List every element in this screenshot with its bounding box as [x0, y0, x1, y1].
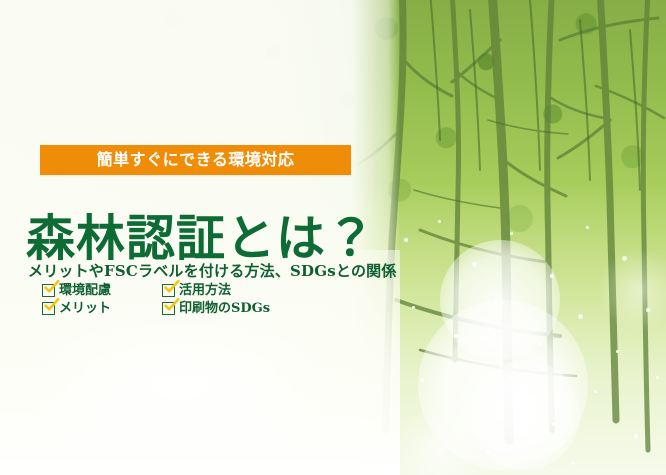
page-subtitle: メリットやFSCラベルを付ける方法、SDGsとの関係 [28, 264, 397, 279]
page-title: 森林認証とは？ [26, 214, 376, 263]
list-item-label: 環境配慮 [59, 284, 111, 297]
eyebrow-banner: 簡単すぐにできる環境対応 [40, 145, 351, 175]
list-item: 活用方法 [162, 284, 270, 297]
list-item-label: 活用方法 [179, 284, 231, 297]
list-item: 印刷物のSDGs [162, 302, 270, 315]
feature-checklist: 環境配慮 活用方法 メリット [42, 284, 270, 315]
checkbox-checked-icon [162, 284, 175, 297]
checkbox-checked-icon [162, 302, 175, 315]
hero-content: 簡単すぐにできる環境対応 森林認証とは？ メリットやFSCラベルを付ける方法、S… [0, 0, 666, 475]
checkbox-checked-icon [42, 284, 55, 297]
checkbox-checked-icon [42, 302, 55, 315]
list-item-label: メリット [59, 302, 111, 315]
eyebrow-banner-text: 簡単すぐにできる環境対応 [97, 152, 295, 168]
list-item-label: 印刷物のSDGs [179, 302, 270, 315]
hero-banner: 簡単すぐにできる環境対応 森林認証とは？ メリットやFSCラベルを付ける方法、S… [0, 0, 666, 475]
list-item: 環境配慮 [42, 284, 162, 297]
list-item: メリット [42, 302, 162, 315]
